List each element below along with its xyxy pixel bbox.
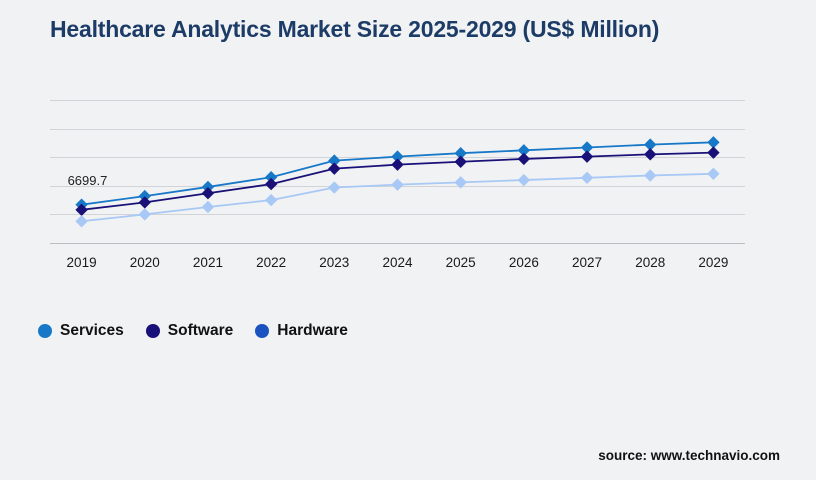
x-axis-tick-2027: 2027	[557, 255, 617, 270]
x-axis-tick-2021: 2021	[178, 255, 238, 270]
data-point-label: 6699.7	[68, 173, 108, 188]
gridline	[50, 100, 745, 101]
x-axis-tick-2022: 2022	[241, 255, 301, 270]
gridline	[50, 157, 745, 158]
page-title: Healthcare Analytics Market Size 2025-20…	[50, 16, 659, 43]
legend-item-services[interactable]: Services	[38, 322, 124, 340]
x-axis-tick-2025: 2025	[431, 255, 491, 270]
source-attribution: source: www.technavio.com	[598, 448, 780, 463]
chart-container: Healthcare Analytics Market Size 2025-20…	[0, 0, 816, 480]
gridline	[50, 129, 745, 130]
legend-label: Services	[60, 322, 124, 340]
x-axis-tick-2028: 2028	[620, 255, 680, 270]
x-axis-labels: 2019202020212022202320242025202620272028…	[50, 255, 745, 273]
legend-marker-icon	[255, 324, 269, 338]
plot-area	[50, 100, 745, 244]
x-axis-line	[50, 243, 745, 244]
legend-item-hardware[interactable]: Hardware	[255, 322, 348, 340]
x-axis-tick-2019: 2019	[52, 255, 112, 270]
x-axis-tick-2020: 2020	[115, 255, 175, 270]
x-axis-tick-2024: 2024	[368, 255, 428, 270]
x-axis-tick-2023: 2023	[304, 255, 364, 270]
legend-marker-icon	[146, 324, 160, 338]
gridline	[50, 214, 745, 215]
x-axis-tick-2029: 2029	[683, 255, 743, 270]
legend-label: Software	[168, 322, 233, 340]
legend-label: Hardware	[277, 322, 348, 340]
gridline	[50, 186, 745, 187]
legend-marker-icon	[38, 324, 52, 338]
chart-legend: ServicesSoftwareHardware	[38, 322, 348, 340]
x-axis-tick-2026: 2026	[494, 255, 554, 270]
legend-item-software[interactable]: Software	[146, 322, 233, 340]
